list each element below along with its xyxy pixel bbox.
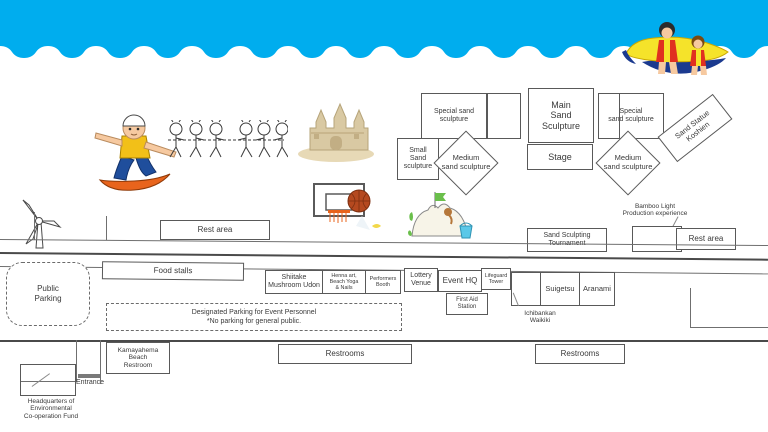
event-hq-box[interactable]: Event HQ bbox=[438, 270, 482, 292]
entrance-label: Entrance bbox=[74, 379, 106, 387]
designated-parking-area: Designated Parking for Event Personnel *… bbox=[106, 303, 402, 331]
booth-shiitake-mushroom-udon[interactable]: Shiitake Mushroom Udon bbox=[265, 270, 323, 294]
food-stalls-box[interactable]: Food stalls bbox=[102, 261, 244, 280]
restrooms-right-box[interactable]: Restrooms bbox=[535, 344, 625, 364]
ichibankan-waikiki-label: Ichibankan Waikiki bbox=[512, 310, 568, 325]
wind-turbine-illustration bbox=[14, 196, 62, 252]
first-aid-station-box[interactable]: First Aid Station bbox=[446, 293, 488, 315]
public-parking-area[interactable]: Public Parking bbox=[6, 262, 90, 326]
tug-of-war-illustration bbox=[164, 120, 288, 164]
main-sand-sculpture-box[interactable]: Main Sand Sculpture bbox=[528, 88, 594, 143]
lifeguard-tower-box[interactable]: Lifeguard Tower bbox=[481, 268, 511, 290]
special-sand-sculpture-left-box[interactable]: Special sand sculpture bbox=[421, 93, 487, 139]
headquarters-box[interactable] bbox=[20, 364, 76, 396]
sand-sculpting-tournament-box[interactable]: Sand Sculpting Tournament bbox=[527, 228, 607, 252]
medium-sand-sculpture-left-label: Medium sand sculpture bbox=[440, 150, 492, 176]
booth-henna-art-beach-yoga-nails[interactable]: Henna art, Beach Yoga & Nails bbox=[322, 270, 366, 294]
rest-area-right-box[interactable]: Rest area bbox=[676, 228, 736, 250]
kamayahema-beach-restroom-box[interactable]: Kamayahema Beach Restroom bbox=[106, 342, 170, 374]
event-map: Bamboo Light up Special sand sculpture M… bbox=[0, 0, 768, 432]
sand-sculpture-slot-a[interactable] bbox=[487, 93, 521, 139]
sand-statue-koshien-box[interactable]: Sand Statue Koshien bbox=[658, 94, 733, 162]
stage-box[interactable]: Stage bbox=[527, 144, 593, 170]
basketball-hoop-illustration bbox=[312, 182, 386, 240]
rest-area-left-box[interactable]: Rest area bbox=[160, 220, 270, 240]
entrance-marker[interactable] bbox=[78, 374, 100, 378]
lottery-venue-box[interactable]: Lottery Venue bbox=[404, 268, 438, 292]
booth-performers-booth[interactable]: Performers Booth bbox=[365, 270, 401, 294]
small-sand-sculpture-box[interactable]: Small Sand sculpture bbox=[397, 138, 439, 180]
headquarters-label: Headquarters of Environmental Co-operati… bbox=[4, 398, 98, 420]
banana-boat-illustration bbox=[612, 12, 742, 84]
bamboo-light-production-box[interactable] bbox=[632, 226, 682, 252]
bamboo-light-production-label: Bamboo Light Production experience bbox=[600, 203, 710, 218]
sand-sculpture-slot-b[interactable] bbox=[598, 93, 620, 139]
restrooms-center-box[interactable]: Restrooms bbox=[278, 344, 412, 364]
shop-suigetsu-box[interactable]: Suigetsu bbox=[540, 272, 580, 306]
shop-aranami-box[interactable]: Aranami bbox=[579, 272, 615, 306]
sand-mound-illustration bbox=[408, 190, 476, 242]
medium-sand-sculpture-right-label: Medium sand sculpture bbox=[602, 150, 654, 176]
sand-castle-illustration bbox=[296, 102, 378, 164]
